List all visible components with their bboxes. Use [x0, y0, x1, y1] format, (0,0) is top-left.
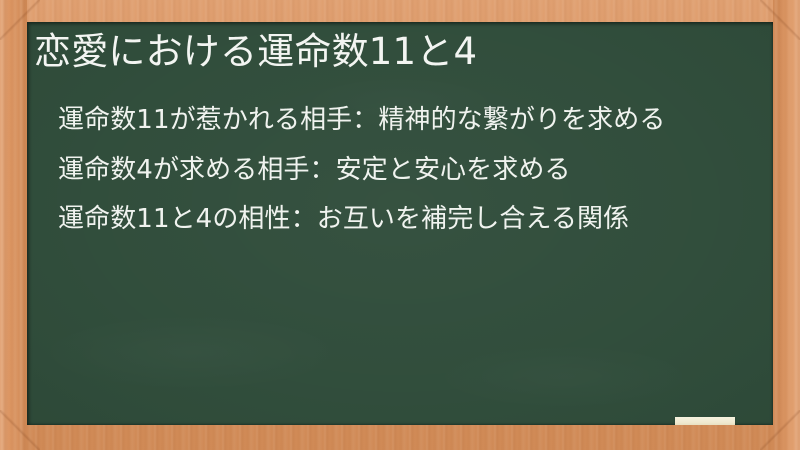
wooden-frame-right-stile: [773, 0, 800, 450]
wooden-frame-left-stile: [0, 0, 27, 450]
chalkboard-surface: 恋愛における運命数11と4 運命数11が惹かれる相手：精神的な繋がりを求める 運…: [27, 22, 773, 425]
slide-title: 恋愛における運命数11と4: [34, 30, 755, 74]
chalk-stick: [675, 417, 735, 425]
bullet-list: 運命数11が惹かれる相手：精神的な繋がりを求める 運命数4が求める相手：安定と安…: [58, 103, 753, 237]
bullet-item: 運命数11と4の相性：お互いを補完し合える関係: [58, 202, 753, 237]
chalkboard-slide: 恋愛における運命数11と4 運命数11が惹かれる相手：精神的な繋がりを求める 運…: [0, 0, 800, 450]
bullet-item: 運命数11が惹かれる相手：精神的な繋がりを求める: [58, 103, 753, 138]
bullet-item: 運命数4が求める相手：安定と安心を求める: [58, 153, 753, 188]
